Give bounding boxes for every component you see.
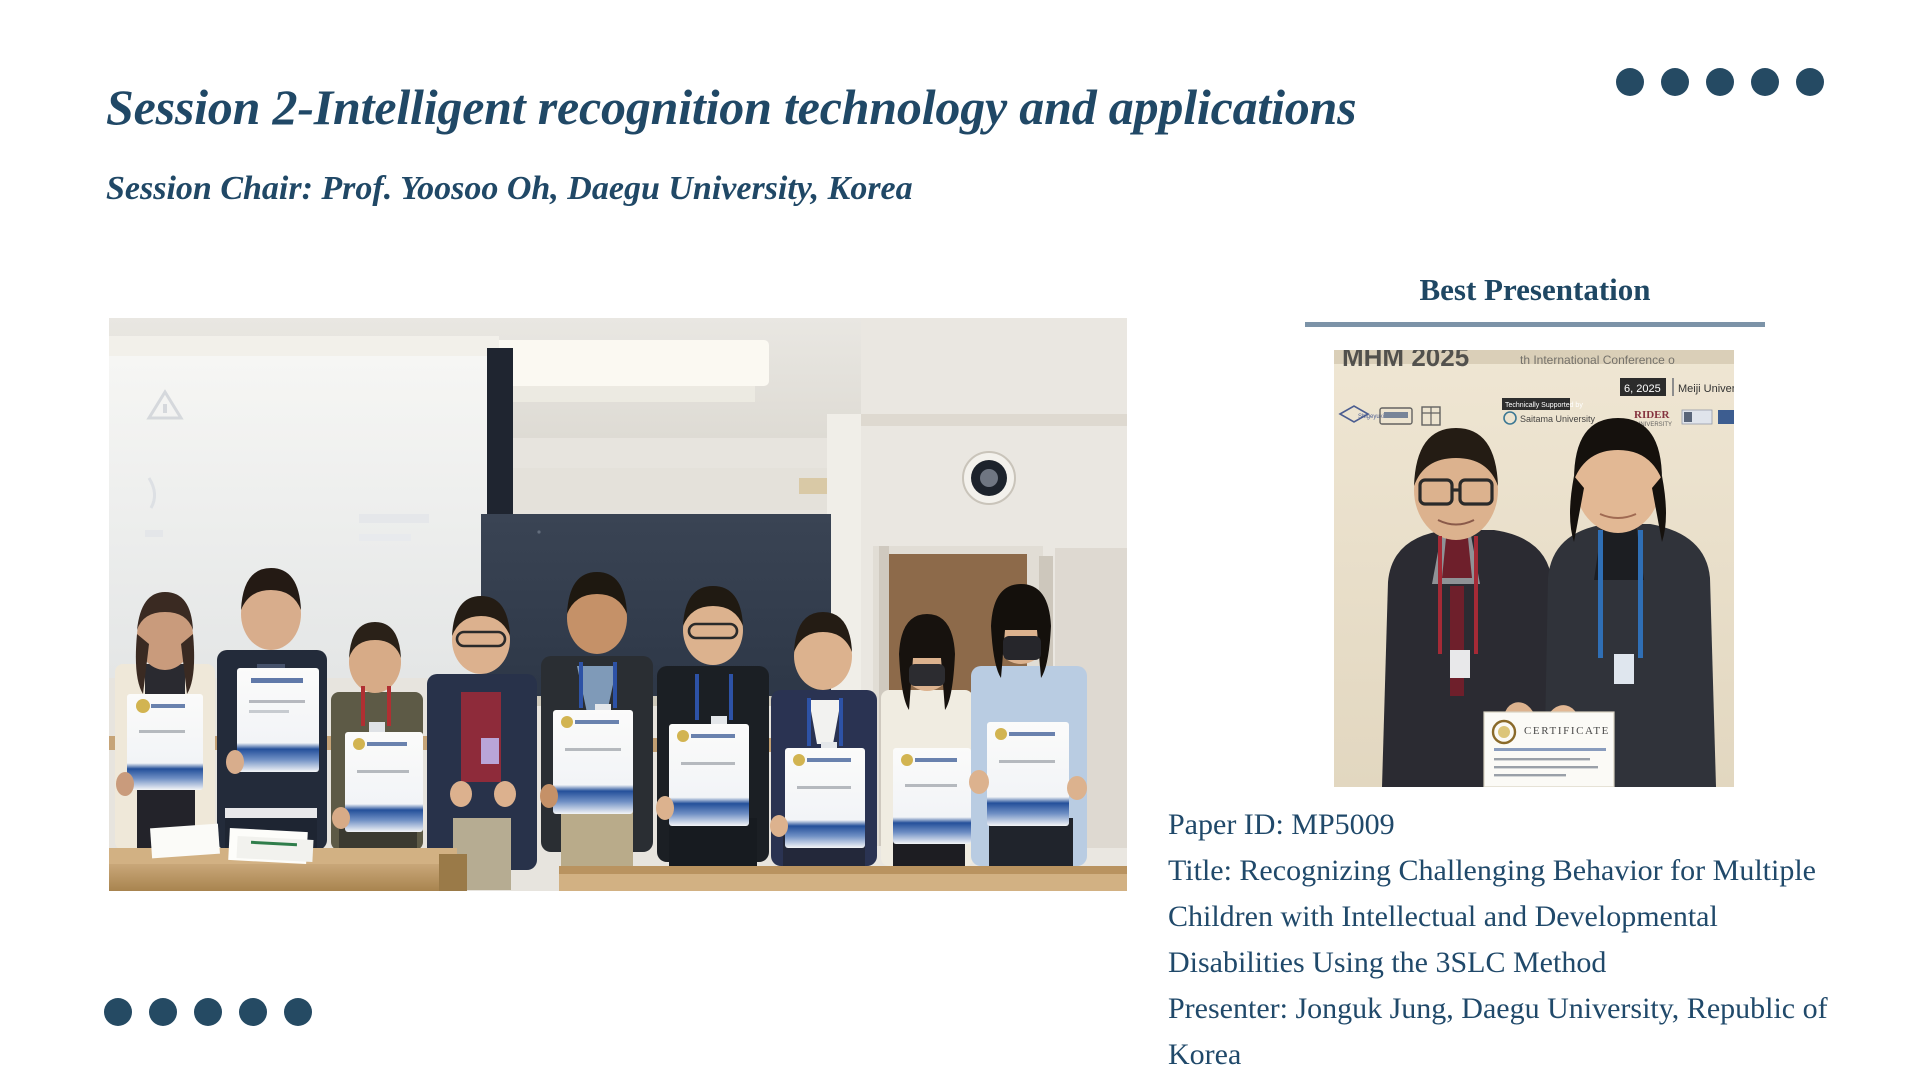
paper-info-line: Title: Recognizing Challenging Behavior …: [1168, 848, 1908, 894]
dot-icon: [1706, 68, 1734, 96]
dot-icon: [284, 998, 312, 1026]
svg-text:th International Conference o: th International Conference o: [1520, 353, 1675, 367]
paper-info-line: Presenter: Jonguk Jung, Daegu University…: [1168, 986, 1908, 1032]
dot-icon: [104, 998, 132, 1026]
presentation-slide: Session 2-Intelligent recognition techno…: [0, 0, 1920, 1078]
decorative-dots-top-right: [1616, 68, 1824, 96]
dot-icon: [1751, 68, 1779, 96]
paper-info-line: Children with Intellectual and Developme…: [1168, 894, 1908, 940]
dot-icon: [239, 998, 267, 1026]
award-heading-divider: [1305, 322, 1765, 327]
session-chair-subtitle: Session Chair: Prof. Yoosoo Oh, Daegu Un…: [106, 170, 913, 208]
group-photo-illustration: [109, 318, 1127, 891]
decorative-dots-bottom-left: [104, 998, 312, 1026]
dot-icon: [1616, 68, 1644, 96]
svg-text:Technically Supported by: Technically Supported by: [1505, 402, 1583, 409]
paper-info-line: Paper ID: MP5009: [1168, 802, 1908, 848]
svg-text:RIDER: RIDER: [1634, 409, 1671, 421]
svg-text:Saitama University: Saitama University: [1520, 414, 1596, 424]
dot-icon: [1661, 68, 1689, 96]
page-title: Session 2-Intelligent recognition techno…: [106, 78, 1356, 136]
dot-icon: [149, 998, 177, 1026]
svg-text:Meiji Universi: Meiji Universi: [1678, 383, 1734, 395]
paper-info-line: Korea: [1168, 1032, 1908, 1078]
dot-icon: [1796, 68, 1824, 96]
svg-text:MHM 2025: MHM 2025: [1342, 350, 1469, 372]
paper-info-line: Disabilities Using the 3SLC Method: [1168, 940, 1908, 986]
svg-text:6, 2025: 6, 2025: [1624, 383, 1661, 395]
svg-text:CERTIFICATE: CERTIFICATE: [1524, 725, 1610, 737]
dot-icon: [194, 998, 222, 1026]
award-ceremony-illustration: MHM 2025 th International Conference o 6…: [1334, 350, 1734, 787]
award-paper-info: Paper ID: MP5009 Title: Recognizing Chal…: [1168, 802, 1908, 1078]
group-photo: [109, 318, 1127, 891]
best-presentation-photo: MHM 2025 th International Conference o 6…: [1334, 350, 1734, 787]
award-section-heading: Best Presentation: [1305, 272, 1765, 308]
